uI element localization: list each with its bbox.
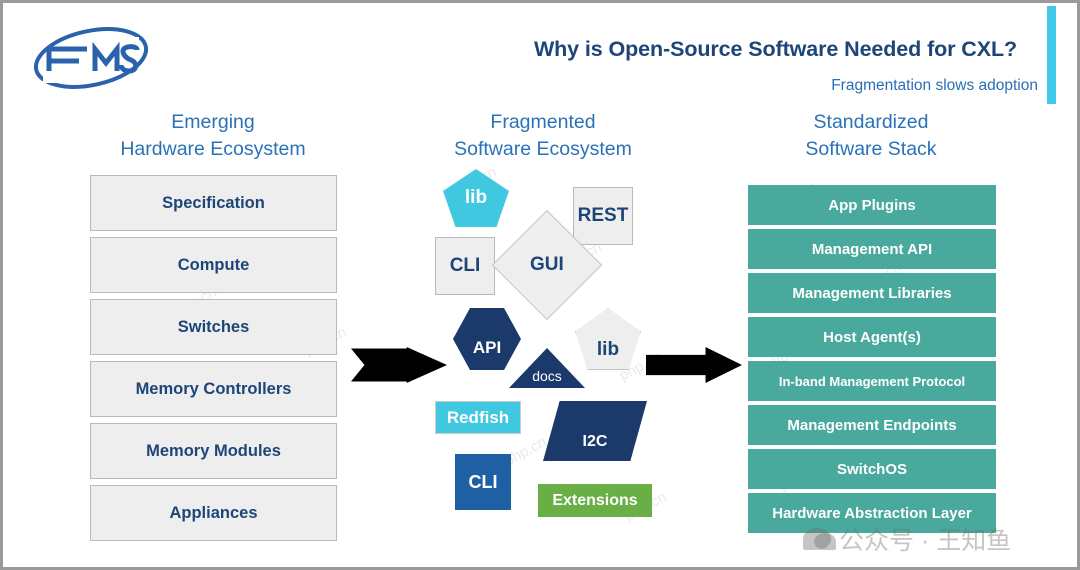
column-heading-left: Emerging Hardware Ecosystem xyxy=(93,109,333,163)
frag-shape-docs[interactable]: docs xyxy=(509,348,585,388)
frag-shape-cli-blue[interactable]: CLI xyxy=(455,454,511,510)
stack-layer[interactable]: Hardware Abstraction Layer xyxy=(748,493,996,533)
arrow-right-icon xyxy=(351,347,447,383)
arrow-right-icon xyxy=(646,347,742,383)
stack-layer[interactable]: Host Agent(s) xyxy=(748,317,996,357)
stack-layer[interactable]: SwitchOS xyxy=(748,449,996,489)
column-heading-right: Standardized Software Stack xyxy=(751,109,991,163)
hardware-box[interactable]: Compute xyxy=(90,237,337,293)
column-heading-right-line2: Software Stack xyxy=(751,136,991,163)
frag-shape-api[interactable]: API xyxy=(453,308,521,370)
stack-layer[interactable]: Management Libraries xyxy=(748,273,996,313)
slide-canvas: php.cn php.cn php.cn php.cn php.cn php.c… xyxy=(0,0,1080,570)
stack-layer[interactable]: In-band Management Protocol xyxy=(748,361,996,401)
page-subtitle: Fragmentation slows adoption xyxy=(523,77,1038,95)
column-heading-left-line1: Emerging xyxy=(93,109,333,136)
hardware-box[interactable]: Switches xyxy=(90,299,337,355)
column-heading-middle-line2: Software Ecosystem xyxy=(423,136,663,163)
frag-shape-lib-light[interactable]: lib xyxy=(575,308,641,370)
column-heading-middle: Fragmented Software Ecosystem xyxy=(423,109,663,163)
hardware-box[interactable]: Memory Modules xyxy=(90,423,337,479)
hardware-box[interactable]: Memory Controllers xyxy=(90,361,337,417)
frag-shape-cli-light[interactable]: CLI xyxy=(435,237,495,295)
column-heading-left-line2: Hardware Ecosystem xyxy=(93,136,333,163)
column-heading-right-line1: Standardized xyxy=(751,109,991,136)
page-title: Why is Open-Source Software Needed for C… xyxy=(523,37,1028,62)
frag-shape-rest[interactable]: REST xyxy=(573,187,633,245)
accent-bar xyxy=(1047,6,1056,104)
column-heading-middle-line1: Fragmented xyxy=(423,109,663,136)
frag-shape-i2c[interactable]: I2C xyxy=(543,401,647,461)
stack-layer[interactable]: App Plugins xyxy=(748,185,996,225)
frag-shape-redfish[interactable]: Redfish xyxy=(435,401,521,434)
stack-layer[interactable]: Management Endpoints xyxy=(748,405,996,445)
frag-shape-extensions[interactable]: Extensions xyxy=(538,484,652,517)
frag-shape-lib-cyan[interactable]: lib xyxy=(443,169,509,227)
standardized-stack: App Plugins Management API Management Li… xyxy=(748,185,996,537)
hardware-ecosystem-stack: Specification Compute Switches Memory Co… xyxy=(90,175,337,547)
hardware-box[interactable]: Appliances xyxy=(90,485,337,541)
stack-layer[interactable]: Management API xyxy=(748,229,996,269)
frag-shape-gui-label: GUI xyxy=(530,254,564,276)
hardware-box[interactable]: Specification xyxy=(90,175,337,231)
fms-logo xyxy=(25,19,157,97)
